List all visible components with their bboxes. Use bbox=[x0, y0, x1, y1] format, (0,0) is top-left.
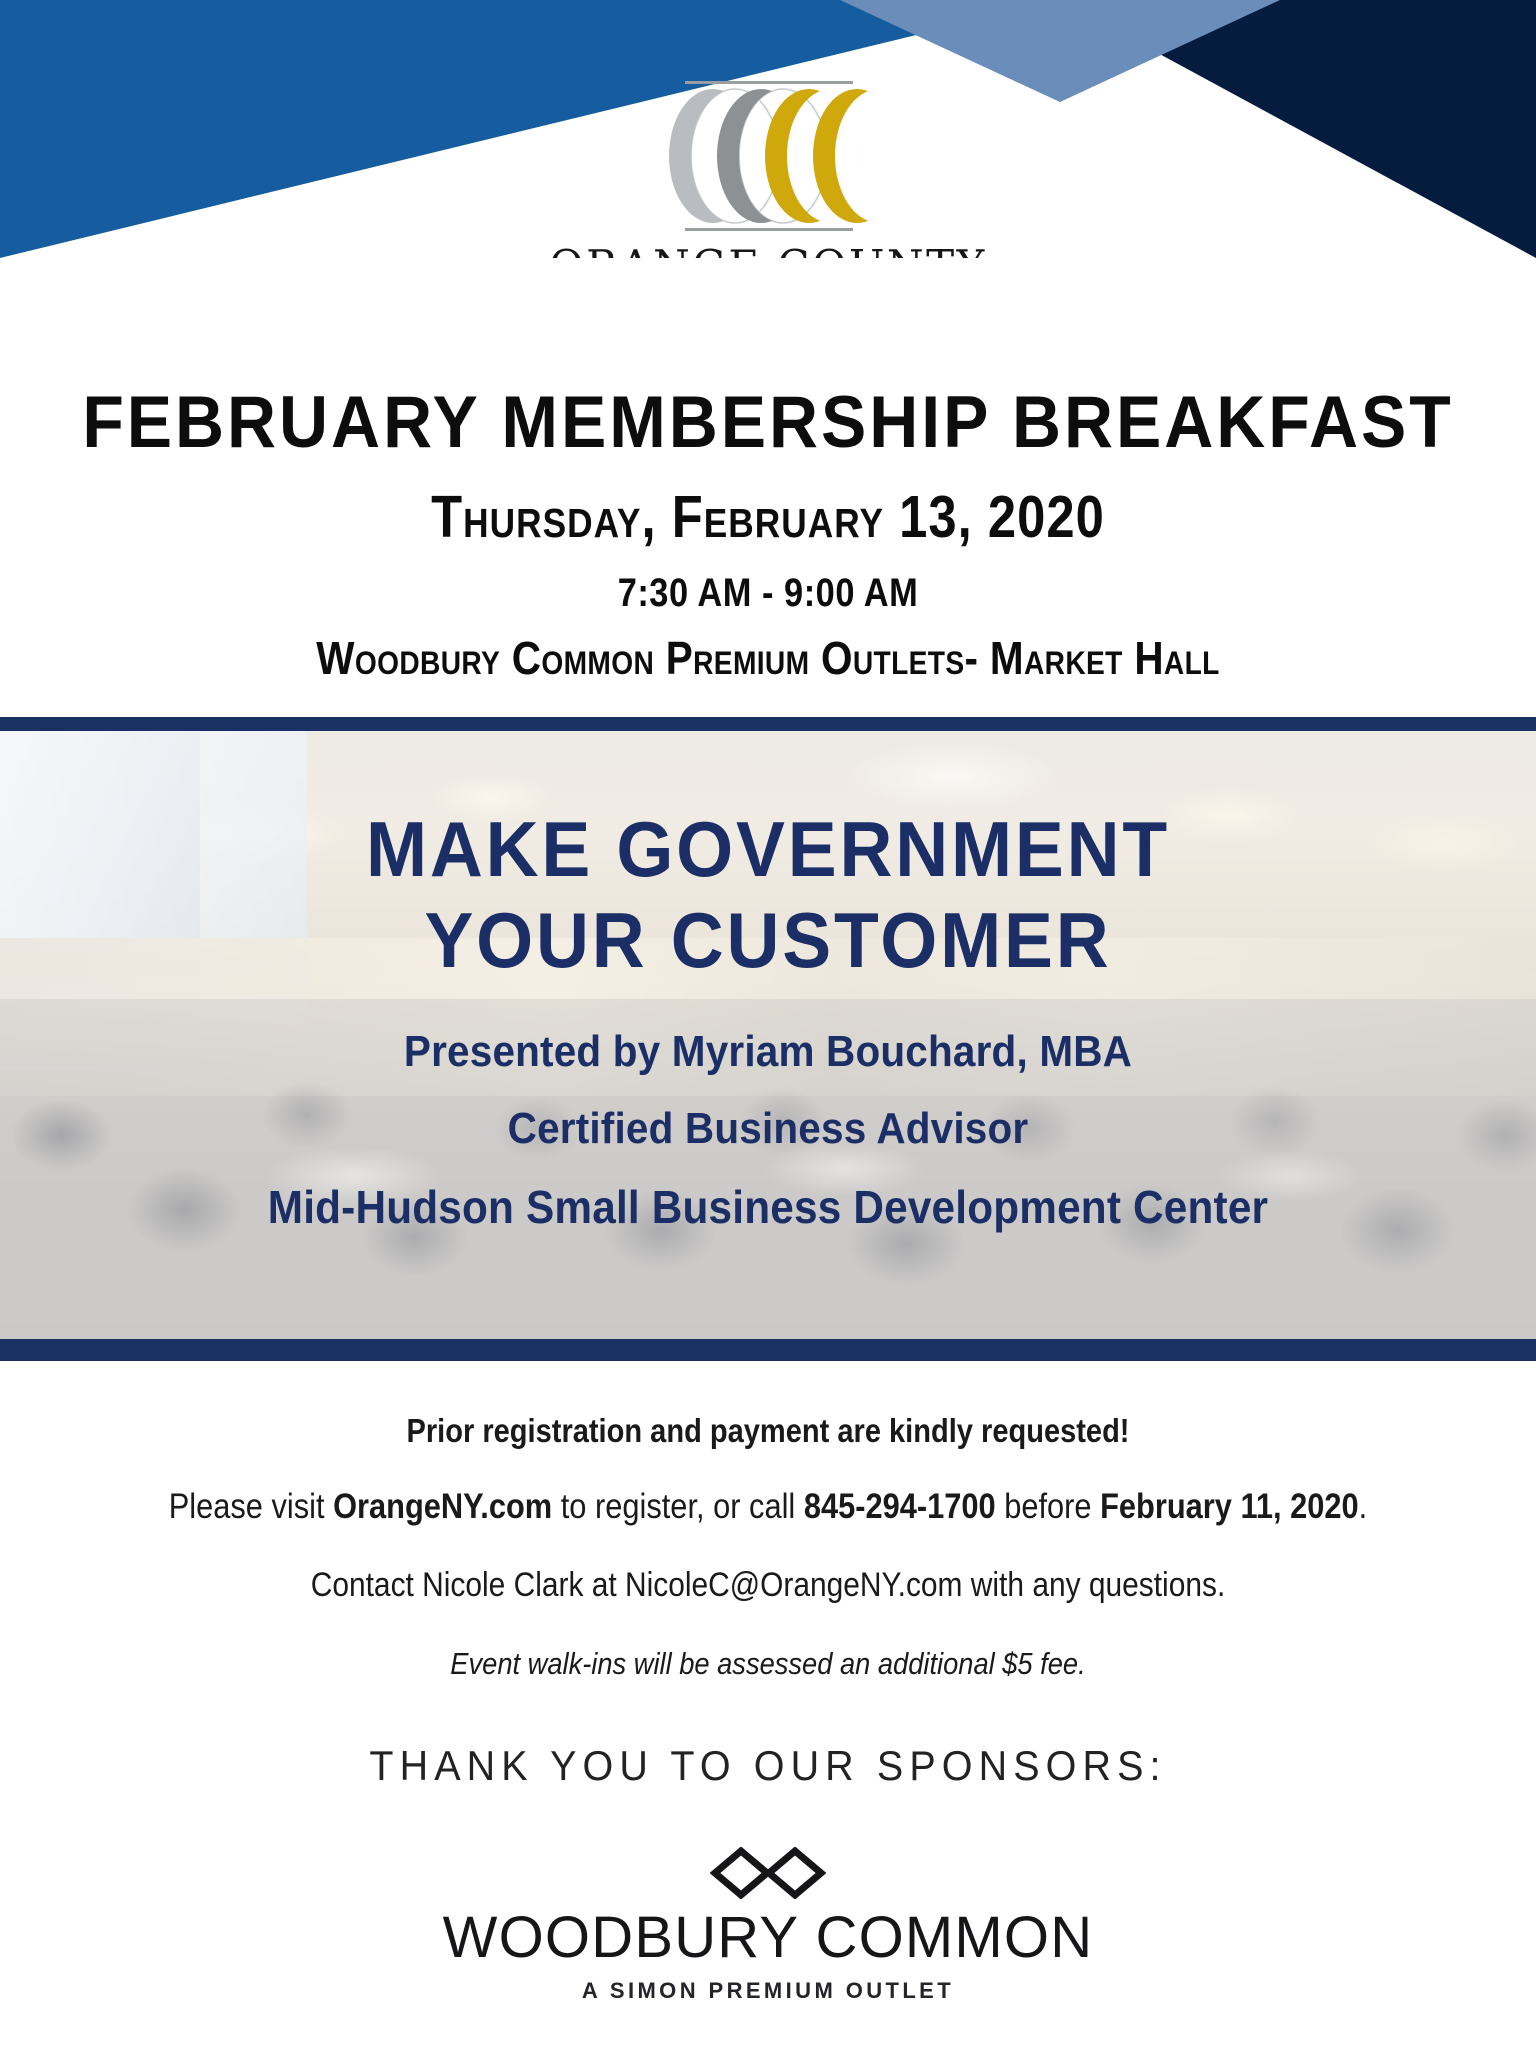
page-title: FEBRUARY MEMBERSHIP BREAKFAST bbox=[54, 386, 1482, 459]
banner-top-rule bbox=[0, 717, 1536, 731]
registration-notice: Prior registration and payment are kindl… bbox=[92, 1414, 1444, 1447]
register-text-before: before bbox=[996, 1487, 1100, 1526]
program-headline-line-1: MAKE GOVERNMENT bbox=[46, 804, 1490, 895]
contact-line: Contact Nicole Clark at NicoleC@OrangeNY… bbox=[92, 1568, 1444, 1602]
register-text-mid: to register, or call bbox=[552, 1487, 804, 1526]
presenter-role: Certified Business Advisor bbox=[61, 1107, 1474, 1151]
header-banner: ORANGE COUNTY Chamber of Commerce bbox=[0, 0, 1536, 258]
presenter-organization: Mid-Hudson Small Business Development Ce… bbox=[61, 1184, 1474, 1230]
contact-text-prefix: Contact Nicole Clark at bbox=[311, 1566, 625, 1604]
registration-instructions: Please visit OrangeNY.com to register, o… bbox=[92, 1489, 1444, 1524]
event-title-block: FEBRUARY MEMBERSHIP BREAKFAST Thursday, … bbox=[0, 258, 1536, 681]
banner-text-overlay: MAKE GOVERNMENT YOUR CUSTOMER Presented … bbox=[0, 731, 1536, 1339]
register-phone[interactable]: 845-294-1700 bbox=[804, 1487, 996, 1526]
woodbury-common-diamonds-icon bbox=[710, 1847, 826, 1899]
walk-in-fee-note: Event walk-ins will be assessed an addit… bbox=[92, 1648, 1444, 1679]
event-time: 7:30 AM - 9:00 AM bbox=[108, 573, 1429, 613]
sponsor-logo-woodbury-common: WOODBURY COMMON A SIMON PREMIUM OUTLET bbox=[0, 1847, 1536, 2002]
register-deadline: February 11, 2020 bbox=[1100, 1487, 1359, 1526]
contact-email[interactable]: NicoleC@OrangeNY.com bbox=[625, 1566, 962, 1604]
register-text-period: . bbox=[1359, 1487, 1368, 1526]
event-date: Thursday, February 13, 2020 bbox=[108, 488, 1429, 547]
register-text-prefix: Please visit bbox=[169, 1487, 333, 1526]
sponsor-name: WOODBURY COMMON bbox=[0, 1909, 1536, 1967]
photo-banner-section: MAKE GOVERNMENT YOUR CUSTOMER Presented … bbox=[0, 717, 1536, 1361]
contact-text-suffix: with any questions. bbox=[962, 1566, 1225, 1604]
event-venue: Woodbury Common Premium Outlets- Market … bbox=[92, 635, 1444, 681]
banner-bottom-rule bbox=[0, 1339, 1536, 1361]
logo-text-line-1: ORANGE COUNTY bbox=[0, 244, 1536, 258]
program-headline-line-2: YOUR CUSTOMER bbox=[46, 895, 1490, 986]
register-website[interactable]: OrangeNY.com bbox=[333, 1487, 552, 1526]
orange-county-chamber-logo-icon bbox=[633, 78, 903, 238]
sponsors-heading: THANK YOU TO OUR SPONSORS: bbox=[46, 1745, 1490, 1787]
sponsor-tagline: A SIMON PREMIUM OUTLET bbox=[0, 1980, 1536, 2002]
presenter-name: Presented by Myriam Bouchard, MBA bbox=[61, 1030, 1474, 1074]
sponsors-section: THANK YOU TO OUR SPONSORS: WOODBURY COMM… bbox=[0, 1679, 1536, 2002]
chamber-logo-block: ORANGE COUNTY Chamber of Commerce bbox=[0, 78, 1536, 258]
registration-info-block: Prior registration and payment are kindl… bbox=[0, 1361, 1536, 1679]
